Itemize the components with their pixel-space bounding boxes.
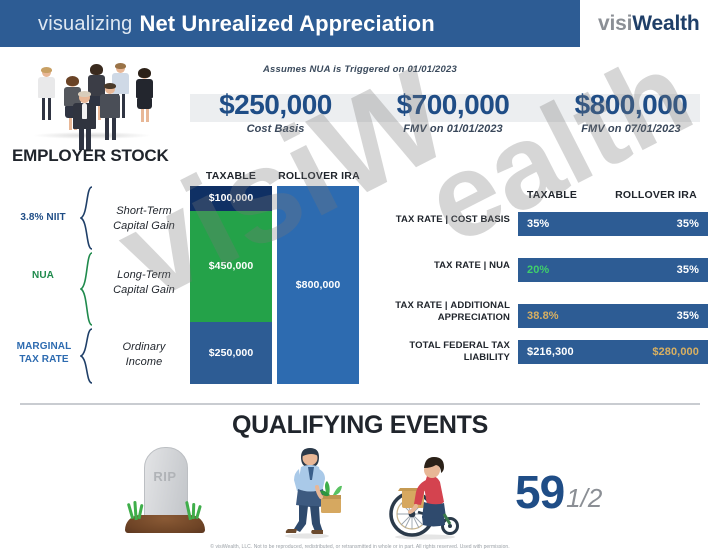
kpi-value: $250,000	[193, 88, 358, 122]
segment-desc-short-term: Short-TermCapital Gain	[98, 204, 190, 234]
logo-w-mark: W	[632, 12, 651, 35]
segment-value-label: $100,000	[209, 192, 254, 204]
segment-value-label: $450,000	[209, 260, 254, 272]
qualifying-events-heading: QUALIFYING EVENTS	[0, 411, 720, 440]
employer-stock-heading: EMPLOYER STOCK	[12, 146, 169, 166]
logo-suffix: ealth	[651, 12, 699, 35]
bracket-label-nua: NUA	[8, 270, 78, 281]
tombstone-stone	[144, 447, 188, 523]
group-shadow	[34, 132, 150, 139]
segment-desc-long-term: Long-TermCapital Gain	[98, 268, 190, 298]
tax-table-cell-rollover: 35%	[609, 258, 699, 282]
age-59-and-a-half: 59 1/2	[515, 455, 675, 515]
kpi-label: FMV on 07/01/2023	[546, 123, 716, 135]
bar-header-taxable: TAXABLE	[190, 170, 272, 182]
rollover-bar-segment-0: $800,000	[277, 186, 359, 384]
kpi-label: FMV on 01/01/2023	[368, 123, 538, 135]
segment-desc-ordinary: OrdinaryIncome	[98, 340, 190, 370]
grass-blade	[195, 505, 202, 519]
tax-table-cell-taxable: $216,300	[527, 340, 603, 364]
tax-table-row: 38.8%35%	[518, 304, 708, 328]
segment-value-label: $250,000	[209, 347, 254, 359]
bar-column-taxable: $100,000$450,000$250,000	[190, 186, 272, 384]
separation-from-service-icon	[277, 441, 347, 539]
tax-table-cell-rollover: 35%	[609, 304, 699, 328]
brace-nua-icon	[80, 252, 94, 326]
age-fraction: 1/2	[566, 481, 602, 515]
title-prefix: visualizing	[38, 13, 132, 36]
tax-table-cell-taxable: 38.8%	[527, 304, 603, 328]
bracket-label-marginal-tax-rate: MARGINALTAX RATE	[4, 340, 84, 366]
disability-wheelchair-icon	[380, 448, 470, 540]
taxable-bar-segment-1: $450,000	[190, 211, 272, 322]
tax-table-row-label: TAX RATE | NUA	[368, 260, 510, 272]
logo-prefix: visi	[598, 12, 632, 35]
tax-table-row-label: TAX RATE | ADDITIONALAPPRECIATION	[368, 300, 510, 324]
kpi-value: $700,000	[368, 88, 538, 122]
tax-table-cell-rollover: $280,000	[609, 340, 699, 364]
tombstone-rip-text: RIP	[144, 469, 186, 484]
copyright-footer: © visiWealth, LLC. Not to be reproduced,…	[0, 544, 720, 550]
employees-group-icon	[22, 58, 162, 140]
taxable-bar-segment-2: $250,000	[190, 322, 272, 384]
page-title: visualizing Net Unrealized Appreciation	[38, 10, 435, 38]
kpi-cost-basis: $250,000 Cost Basis	[193, 88, 358, 135]
section-divider	[20, 403, 700, 405]
tax-table-row: 35%35%	[518, 212, 708, 236]
table-header-taxable: TAXABLE	[513, 189, 591, 201]
brace-niit-icon	[80, 186, 94, 250]
title-main: Net Unrealized Appreciation	[139, 11, 434, 37]
bar-column-rollover-ira: $800,000	[277, 186, 359, 384]
tax-table-row: $216,300$280,000	[518, 340, 708, 364]
tax-table-cell-taxable: 20%	[527, 258, 603, 282]
kpi-fmv-jan: $700,000 FMV on 01/01/2023	[368, 88, 538, 135]
table-header-rollover: ROLLOVER IRA	[600, 189, 712, 201]
bar-header-rollover: ROLLOVER IRA	[276, 170, 362, 182]
brand-logo: visiWealth	[598, 12, 700, 36]
kpi-fmv-jul: $800,000 FMV on 07/01/2023	[546, 88, 716, 135]
bracket-label-niit: 3.8% NIIT	[8, 212, 78, 223]
tax-table-row-label: TOTAL FEDERAL TAXLIABILITY	[368, 340, 510, 364]
tax-table-row: 20%35%	[518, 258, 708, 282]
taxable-bar-segment-0: $100,000	[190, 186, 272, 211]
tombstone-icon: RIP	[117, 443, 213, 538]
tax-table-cell-taxable: 35%	[527, 212, 603, 236]
tax-table-cell-rollover: 35%	[609, 212, 699, 236]
infographic-page: visualizing Net Unrealized Appreciation …	[0, 0, 720, 556]
kpi-label: Cost Basis	[193, 123, 358, 135]
kpi-value: $800,000	[546, 88, 716, 122]
segment-value-label: $800,000	[296, 279, 341, 291]
tax-table-row-label: TAX RATE | COST BASIS	[368, 214, 510, 226]
age-number: 59	[515, 469, 564, 515]
brace-marginal-icon	[80, 328, 94, 384]
